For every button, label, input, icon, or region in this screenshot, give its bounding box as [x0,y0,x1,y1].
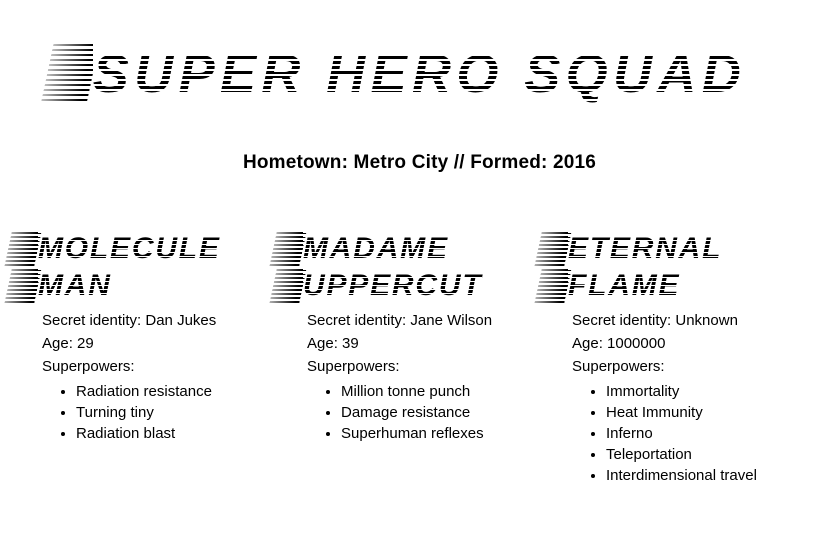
hero-card: MoleculeManSecret identity: Dan JukesAge… [38,232,303,444]
hero-name-label: Eternal [568,232,722,265]
hero-powers-label: Superpowers: [572,355,833,378]
page-title-label: Super Hero Squad [93,44,746,104]
hero-name-text: Molecule [38,232,221,266]
hero-name: MoleculeMan [38,232,303,303]
hero-card: EternalFlameSecret identity: UnknownAge:… [568,232,833,486]
hero-power-item: Radiation resistance [76,381,303,402]
hero-power-item: Immortality [606,381,833,402]
hero-power-item: Interdimensional travel [606,465,833,486]
hero-card: MadameUppercutSecret identity: Jane Wils… [303,232,568,444]
hero-powers-label: Superpowers: [42,355,303,378]
hero-power-item: Inferno [606,423,833,444]
hero-power-item: Teleportation [606,444,833,465]
hero-powers-list: ImmortalityHeat ImmunityInfernoTeleporta… [572,381,833,486]
hero-powers-list: Million tonne punchDamage resistanceSupe… [307,381,568,444]
hero-power-item: Damage resistance [341,402,568,423]
hero-name-line: Flame [568,269,833,303]
hero-name-text: Man [38,269,112,303]
page-title-text: Super Hero Squad [93,44,746,104]
hero-name-label: Molecule [38,232,221,265]
hero-name-text: Flame [568,269,680,303]
hero-name-text: Uppercut [303,269,482,303]
hero-name-label: Man [38,269,112,302]
hero-secret-identity: Secret identity: Jane Wilson [307,309,568,332]
hero-name-line: Eternal [568,232,833,266]
hero-name-label: Uppercut [303,269,482,302]
hero-powers-list: Radiation resistanceTurning tinyRadiatio… [42,381,303,444]
speed-lines-trail-icon [40,44,99,104]
hero-age: Age: 1000000 [572,332,833,355]
hero-name-label: Flame [568,269,680,302]
hero-secret-identity: Secret identity: Dan Jukes [42,309,303,332]
hero-name-line: Uppercut [303,269,568,303]
hero-power-item: Million tonne punch [341,381,568,402]
hero-name-line: Madame [303,232,568,266]
hero-powers-label: Superpowers: [307,355,568,378]
hero-name-line: Molecule [38,232,303,266]
hero-age: Age: 29 [42,332,303,355]
hero-name-text: Madame [303,232,449,266]
hero-name-text: Eternal [568,232,722,266]
hero-details: Secret identity: Dan JukesAge: 29Superpo… [38,309,303,444]
hero-name: MadameUppercut [303,232,568,303]
hero-roster: MoleculeManSecret identity: Dan JukesAge… [38,232,829,486]
speed-lines-trail-icon [4,232,41,266]
hero-name-line: Man [38,269,303,303]
page-subtitle: Hometown: Metro City // Formed: 2016 [0,152,839,174]
speed-lines-trail-icon [4,269,41,303]
hero-age: Age: 39 [307,332,568,355]
hero-details: Secret identity: UnknownAge: 1000000Supe… [568,309,833,486]
hero-power-item: Superhuman reflexes [341,423,568,444]
hero-power-item: Turning tiny [76,402,303,423]
hero-details: Secret identity: Jane WilsonAge: 39Super… [303,309,568,444]
hero-name-label: Madame [303,232,449,265]
hero-secret-identity: Secret identity: Unknown [572,309,833,332]
hero-power-item: Radiation blast [76,423,303,444]
page-title: Super Hero Squad [0,44,839,104]
hero-power-item: Heat Immunity [606,402,833,423]
hero-name: EternalFlame [568,232,833,303]
